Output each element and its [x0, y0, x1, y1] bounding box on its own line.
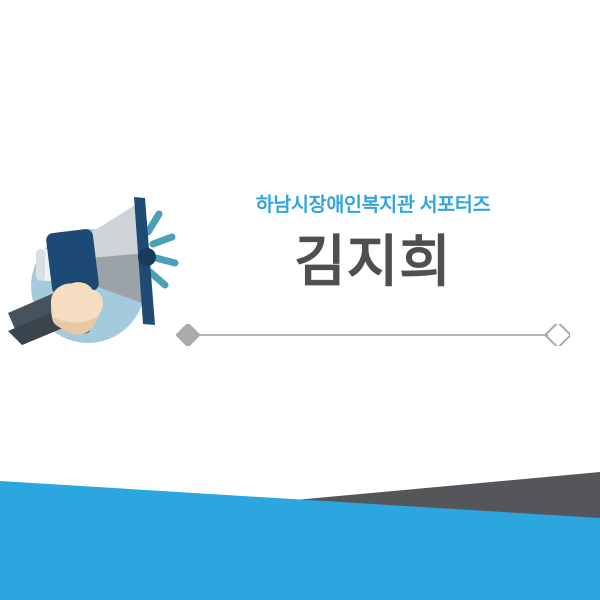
- megaphone-back-cylinder-shade: [36, 249, 45, 281]
- divider-left-diamond-icon: [176, 324, 201, 346]
- name-card: 하남시장애인복지관 서포터즈 김지희: [0, 0, 600, 600]
- megaphone-in-hand-illustration: [8, 185, 203, 350]
- text-block: 하남시장애인복지관 서포터즈 김지희: [176, 196, 570, 346]
- organization-subtitle: 하남시장애인복지관 서포터즈: [176, 196, 570, 216]
- soundwave-icon: [148, 214, 175, 285]
- bottom-banner: [0, 450, 600, 600]
- megaphone-rim-knob: [138, 248, 156, 266]
- divider: [176, 324, 570, 346]
- supporter-name: 김지희: [176, 216, 570, 290]
- divider-right-diamond-icon: [545, 324, 570, 346]
